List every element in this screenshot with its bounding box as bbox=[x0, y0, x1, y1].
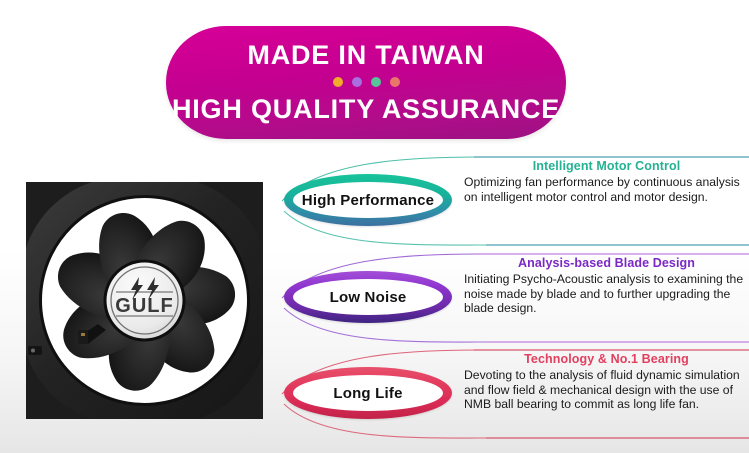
dot-amber-icon bbox=[333, 77, 343, 87]
feature-row-low-noise: Low Noise Analysis-based Blade Design In… bbox=[278, 252, 749, 347]
feature-badge-high-performance[interactable]: High Performance bbox=[284, 174, 452, 226]
feature-badge-label: Long Life bbox=[333, 385, 402, 402]
banner-title-made-in-taiwan: MADE IN TAIWAN bbox=[247, 40, 484, 70]
feature-row-long-life: Long Life Technology & No.1 Bearing Devo… bbox=[278, 348, 749, 443]
feature-badge-inner: Long Life bbox=[293, 375, 443, 411]
feature-heading-analysis-based-blade-design: Analysis-based Blade Design bbox=[464, 256, 749, 271]
feature-badge-inner: Low Noise bbox=[293, 279, 443, 315]
dot-purple-icon bbox=[352, 77, 362, 87]
banner-subtitle-quality-assurance: HIGH QUALITY ASSURANCE bbox=[172, 94, 560, 124]
feature-badge-inner: High Performance bbox=[293, 182, 443, 218]
feature-badge-low-noise[interactable]: Low Noise bbox=[284, 271, 452, 323]
feature-text-block: Intelligent Motor Control Optimizing fan… bbox=[464, 159, 749, 204]
feature-body-text: Devoting to the analysis of fluid dynami… bbox=[464, 368, 749, 412]
feature-heading-technology-no1-bearing: Technology & No.1 Bearing bbox=[464, 352, 749, 367]
feature-row-high-performance: High Performance Intelligent Motor Contr… bbox=[278, 155, 749, 250]
product-photo-axial-fan: GULF bbox=[22, 178, 267, 423]
infographic-canvas: MADE IN TAIWAN HIGH QUALITY ASSURANCE bbox=[0, 0, 749, 453]
feature-text-block: Technology & No.1 Bearing Devoting to th… bbox=[464, 352, 749, 412]
banner-dot-row bbox=[333, 77, 400, 87]
feature-badge-label: Low Noise bbox=[330, 289, 407, 306]
feature-body-text: Optimizing fan performance by continuous… bbox=[464, 175, 749, 204]
feature-badge-label: High Performance bbox=[302, 192, 434, 209]
dot-coral-icon bbox=[390, 77, 400, 87]
feature-heading-intelligent-motor-control: Intelligent Motor Control bbox=[464, 159, 749, 174]
feature-badge-long-life[interactable]: Long Life bbox=[284, 367, 452, 419]
feature-text-block: Analysis-based Blade Design Initiating P… bbox=[464, 256, 749, 316]
fan-illustration: GULF bbox=[22, 178, 267, 423]
quality-banner: MADE IN TAIWAN HIGH QUALITY ASSURANCE bbox=[166, 26, 566, 139]
feature-body-text: Initiating Psycho-Acoustic analysis to e… bbox=[464, 272, 749, 316]
fan-side-tab bbox=[28, 346, 42, 355]
fan-hub-brand-text: GULF bbox=[115, 295, 173, 317]
dot-teal-icon bbox=[371, 77, 381, 87]
